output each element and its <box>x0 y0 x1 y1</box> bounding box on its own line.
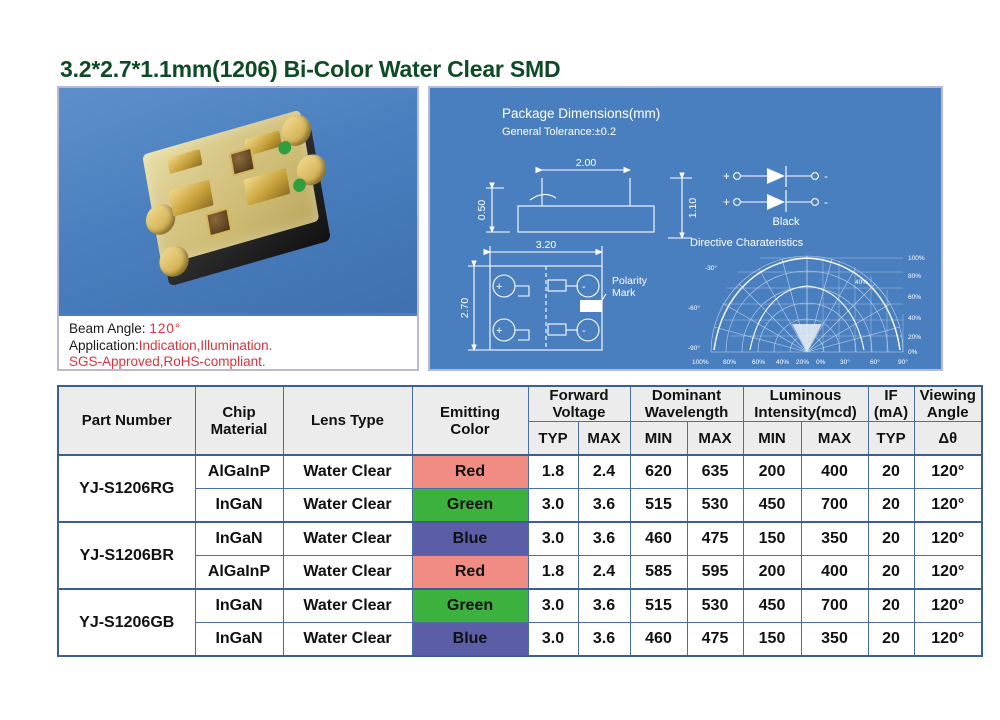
cell-viewing-angle: 120° <box>914 623 982 657</box>
cell-viewing-angle: 120° <box>914 589 982 623</box>
cell-vf-typ: 3.0 <box>528 589 578 623</box>
table-row: InGaNWater ClearGreen3.03.65155304507002… <box>58 489 982 523</box>
polar-chart-title: Directive Charateristics <box>690 237 804 249</box>
specification-table: Part Number Chip Material Lens Type Emit… <box>57 385 983 657</box>
compliance-line: SGS-Approved,RoHS-compliant. <box>69 354 417 371</box>
polar-bottom-tick-20: 20% <box>796 359 809 366</box>
drawing-tolerance: General Tolerance:±0.2 <box>502 126 616 138</box>
th-vf-typ: TYP <box>528 422 578 456</box>
th-chip-material: Chip Material <box>195 386 283 455</box>
th-if-l1: IF <box>884 387 897 404</box>
th-wl-max: MAX <box>687 422 743 456</box>
th-chip-material-l1: Chip <box>222 404 255 421</box>
cell-vf-typ: 1.8 <box>528 455 578 489</box>
bottom-view-plus-2: + <box>496 325 502 337</box>
cell-intensity-max: 400 <box>801 455 868 489</box>
cell-vf-max: 2.4 <box>578 455 630 489</box>
cell-emitting-color: Green <box>412 589 528 623</box>
cell-intensity-min: 200 <box>743 556 801 590</box>
polarity-mark-label-line2: Mark <box>612 287 636 299</box>
product-caption: Beam Angle: 120° Application:Indication,… <box>59 316 417 369</box>
table-header-row-1: Part Number Chip Material Lens Type Emit… <box>58 386 982 422</box>
cell-intensity-max: 700 <box>801 489 868 523</box>
polar-bottom-tick-30: 30° <box>840 358 850 366</box>
cell-if-typ: 20 <box>868 522 914 556</box>
th-viewing-angle-l2: Angle <box>927 404 969 421</box>
cell-intensity-min: 450 <box>743 489 801 523</box>
th-chip-material-l2: Material <box>211 421 268 438</box>
cell-viewing-angle: 120° <box>914 522 982 556</box>
polar-angle-tick-neg30: -30° <box>705 264 717 272</box>
th-viewing-angle: Viewing Angle <box>914 386 982 422</box>
cell-part-number: YJ-S1206BR <box>58 522 195 589</box>
bottom-view-minus-1: - <box>582 281 586 293</box>
table-row: YJ-S1206RGAlGaInPWater ClearRed1.82.4620… <box>58 455 982 489</box>
cell-chip-material: InGaN <box>195 589 283 623</box>
side-view-drawing <box>486 170 692 238</box>
beam-angle-label: Beam Angle: <box>69 321 146 336</box>
th-luminous-intensity-l1: Luminous <box>770 387 842 404</box>
polar-right-tick-80: 80% <box>908 273 921 280</box>
th-luminous-intensity: Luminous Intensity(mcd) <box>743 386 868 422</box>
cell-part-number: YJ-S1206GB <box>58 589 195 656</box>
table-row: InGaNWater ClearBlue3.03.646047515035020… <box>58 623 982 657</box>
cell-lens-type: Water Clear <box>283 455 412 489</box>
package-dimensions-drawing: Package Dimensions(mm) General Tolerance… <box>430 88 941 369</box>
th-iv-max: MAX <box>801 422 868 456</box>
cell-if-typ: 20 <box>868 589 914 623</box>
th-viewing-angle-l1: Viewing <box>920 387 976 404</box>
th-dominant-wavelength-l1: Dominant <box>652 387 721 404</box>
cell-vf-max: 2.4 <box>578 556 630 590</box>
cell-wavelength-max: 635 <box>687 455 743 489</box>
cell-emitting-color: Blue <box>412 522 528 556</box>
cell-wavelength-max: 475 <box>687 522 743 556</box>
th-dominant-wavelength-l2: Wavelength <box>645 404 729 421</box>
cell-vf-typ: 3.0 <box>528 522 578 556</box>
th-forward-voltage-l1: Forward <box>549 387 608 404</box>
th-lens-type: Lens Type <box>283 386 412 455</box>
cell-wavelength-max: 475 <box>687 623 743 657</box>
cell-chip-material: AlGaInP <box>195 455 283 489</box>
cell-chip-material: InGaN <box>195 623 283 657</box>
side-view-total-height-dim: 1.10 <box>687 198 699 219</box>
th-luminous-intensity-l2: Intensity(mcd) <box>754 404 857 421</box>
th-viewing-angle-symbol: Δθ <box>914 422 982 456</box>
polar-right-tick-0: 0% <box>908 349 918 356</box>
th-if-typ: TYP <box>868 422 914 456</box>
polar-right-tick-100: 100% <box>908 255 925 262</box>
cell-intensity-max: 400 <box>801 556 868 590</box>
product-photo-panel: Beam Angle: 120° Application:Indication,… <box>57 86 419 371</box>
cell-lens-type: Water Clear <box>283 589 412 623</box>
cell-viewing-angle: 120° <box>914 489 982 523</box>
page-title: 3.2*2.7*1.1mm(1206) Bi-Color Water Clear… <box>60 56 560 83</box>
cell-intensity-min: 150 <box>743 522 801 556</box>
table-header: Part Number Chip Material Lens Type Emit… <box>58 386 982 455</box>
cell-wavelength-min: 460 <box>630 623 687 657</box>
side-view-lens-height-dim: 0.50 <box>476 200 488 221</box>
polar-bottom-tick-80: 80% <box>723 359 736 366</box>
cell-wavelength-min: 585 <box>630 556 687 590</box>
cell-intensity-max: 350 <box>801 522 868 556</box>
cell-vf-max: 3.6 <box>578 623 630 657</box>
circuit-cathode-minus-2: - <box>824 195 828 209</box>
th-emitting-color: Emitting Color <box>412 386 528 455</box>
cell-vf-typ: 1.8 <box>528 556 578 590</box>
th-part-number: Part Number <box>58 386 195 455</box>
polar-right-tick-20: 20% <box>908 334 921 341</box>
cell-wavelength-max: 530 <box>687 589 743 623</box>
application-label: Application: <box>69 338 139 353</box>
cell-if-typ: 20 <box>868 623 914 657</box>
side-view-width-dim: 2.00 <box>576 157 597 169</box>
cell-lens-type: Water Clear <box>283 522 412 556</box>
cell-intensity-max: 350 <box>801 623 868 657</box>
led-package-illustration <box>142 106 336 293</box>
cell-viewing-angle: 120° <box>914 455 982 489</box>
bottom-view-width-dim: 3.20 <box>536 239 557 251</box>
cell-vf-max: 3.6 <box>578 589 630 623</box>
circuit-diagram <box>734 166 819 212</box>
beam-angle-value: 120° <box>149 321 181 336</box>
cell-vf-max: 3.6 <box>578 522 630 556</box>
cell-lens-type: Water Clear <box>283 489 412 523</box>
table-row: YJ-S1206GBInGaNWater ClearGreen3.03.6515… <box>58 589 982 623</box>
polar-bottom-tick-90: 90° <box>898 358 908 366</box>
th-dominant-wavelength: Dominant Wavelength <box>630 386 743 422</box>
polar-bottom-tick-100: 100% <box>692 359 709 366</box>
cell-vf-max: 3.6 <box>578 489 630 523</box>
th-if: IF (mA) <box>868 386 914 422</box>
circuit-anode-plus-1: + <box>723 169 730 183</box>
polarity-mark-label-line1: Polarity <box>612 275 648 287</box>
table-row: YJ-S1206BRInGaNWater ClearBlue3.03.64604… <box>58 522 982 556</box>
cell-wavelength-min: 515 <box>630 589 687 623</box>
bottom-view-minus-2: - <box>582 325 586 337</box>
drawing-title: Package Dimensions(mm) <box>502 106 660 121</box>
directive-characteristics-chart: Directive Charateristics <box>688 237 925 369</box>
polar-bottom-tick-60: 60% <box>752 359 765 366</box>
cell-if-typ: 20 <box>868 556 914 590</box>
cell-intensity-min: 200 <box>743 455 801 489</box>
polar-angle-tick-neg60: -60° <box>688 304 700 312</box>
th-vf-max: MAX <box>578 422 630 456</box>
cell-wavelength-min: 460 <box>630 522 687 556</box>
application-value: Indication,Illumination. <box>139 338 273 353</box>
cell-emitting-color: Blue <box>412 623 528 657</box>
table-row: AlGaInPWater ClearRed1.82.45855952004002… <box>58 556 982 590</box>
cell-viewing-angle: 120° <box>914 556 982 590</box>
cell-chip-material: InGaN <box>195 522 283 556</box>
cell-intensity-min: 450 <box>743 589 801 623</box>
th-if-l2: (mA) <box>874 404 908 421</box>
cell-wavelength-max: 595 <box>687 556 743 590</box>
led-product-photo <box>59 88 417 316</box>
cell-lens-type: Water Clear <box>283 556 412 590</box>
cell-wavelength-min: 620 <box>630 455 687 489</box>
polar-bottom-tick-40: 40% <box>776 359 789 366</box>
polar-angle-tick-neg90: -90° <box>688 344 700 352</box>
th-forward-voltage: Forward Voltage <box>528 386 630 422</box>
cell-emitting-color: Red <box>412 556 528 590</box>
cell-chip-material: InGaN <box>195 489 283 523</box>
polar-bottom-tick-0: 0% <box>816 359 826 366</box>
table-body: YJ-S1206RGAlGaInPWater ClearRed1.82.4620… <box>58 455 982 656</box>
application-line: Application:Indication,Illumination. <box>69 338 417 355</box>
cell-emitting-color: Green <box>412 489 528 523</box>
emission-cone <box>792 324 822 352</box>
circuit-cathode-minus-1: - <box>824 169 828 183</box>
cell-intensity-max: 700 <box>801 589 868 623</box>
th-forward-voltage-l2: Voltage <box>552 404 605 421</box>
cell-wavelength-max: 530 <box>687 489 743 523</box>
cell-chip-material: AlGaInP <box>195 556 283 590</box>
cell-lens-type: Water Clear <box>283 623 412 657</box>
polar-angle-tick-40pct: 40% <box>855 279 868 286</box>
cell-if-typ: 20 <box>868 455 914 489</box>
polar-right-tick-40: 40% <box>908 315 921 322</box>
cell-vf-typ: 3.0 <box>528 489 578 523</box>
circuit-anode-plus-2: + <box>723 195 730 209</box>
cell-intensity-min: 150 <box>743 623 801 657</box>
polar-right-tick-60: 60% <box>908 294 921 301</box>
th-wl-min: MIN <box>630 422 687 456</box>
th-emitting-color-l2: Color <box>450 421 489 438</box>
th-emitting-color-l1: Emitting <box>440 404 500 421</box>
cell-if-typ: 20 <box>868 489 914 523</box>
polar-bottom-tick-60: 60° <box>870 358 880 366</box>
cell-part-number: YJ-S1206RG <box>58 455 195 522</box>
bottom-view-plus-1: + <box>496 281 502 293</box>
circuit-body-label: Black <box>773 216 800 228</box>
package-drawing-panel: Package Dimensions(mm) General Tolerance… <box>428 86 943 371</box>
cell-wavelength-min: 515 <box>630 489 687 523</box>
bottom-view-height-dim: 2.70 <box>459 298 471 319</box>
beam-angle-line: Beam Angle: 120° <box>69 321 417 338</box>
cell-emitting-color: Red <box>412 455 528 489</box>
cell-vf-typ: 3.0 <box>528 623 578 657</box>
th-iv-min: MIN <box>743 422 801 456</box>
